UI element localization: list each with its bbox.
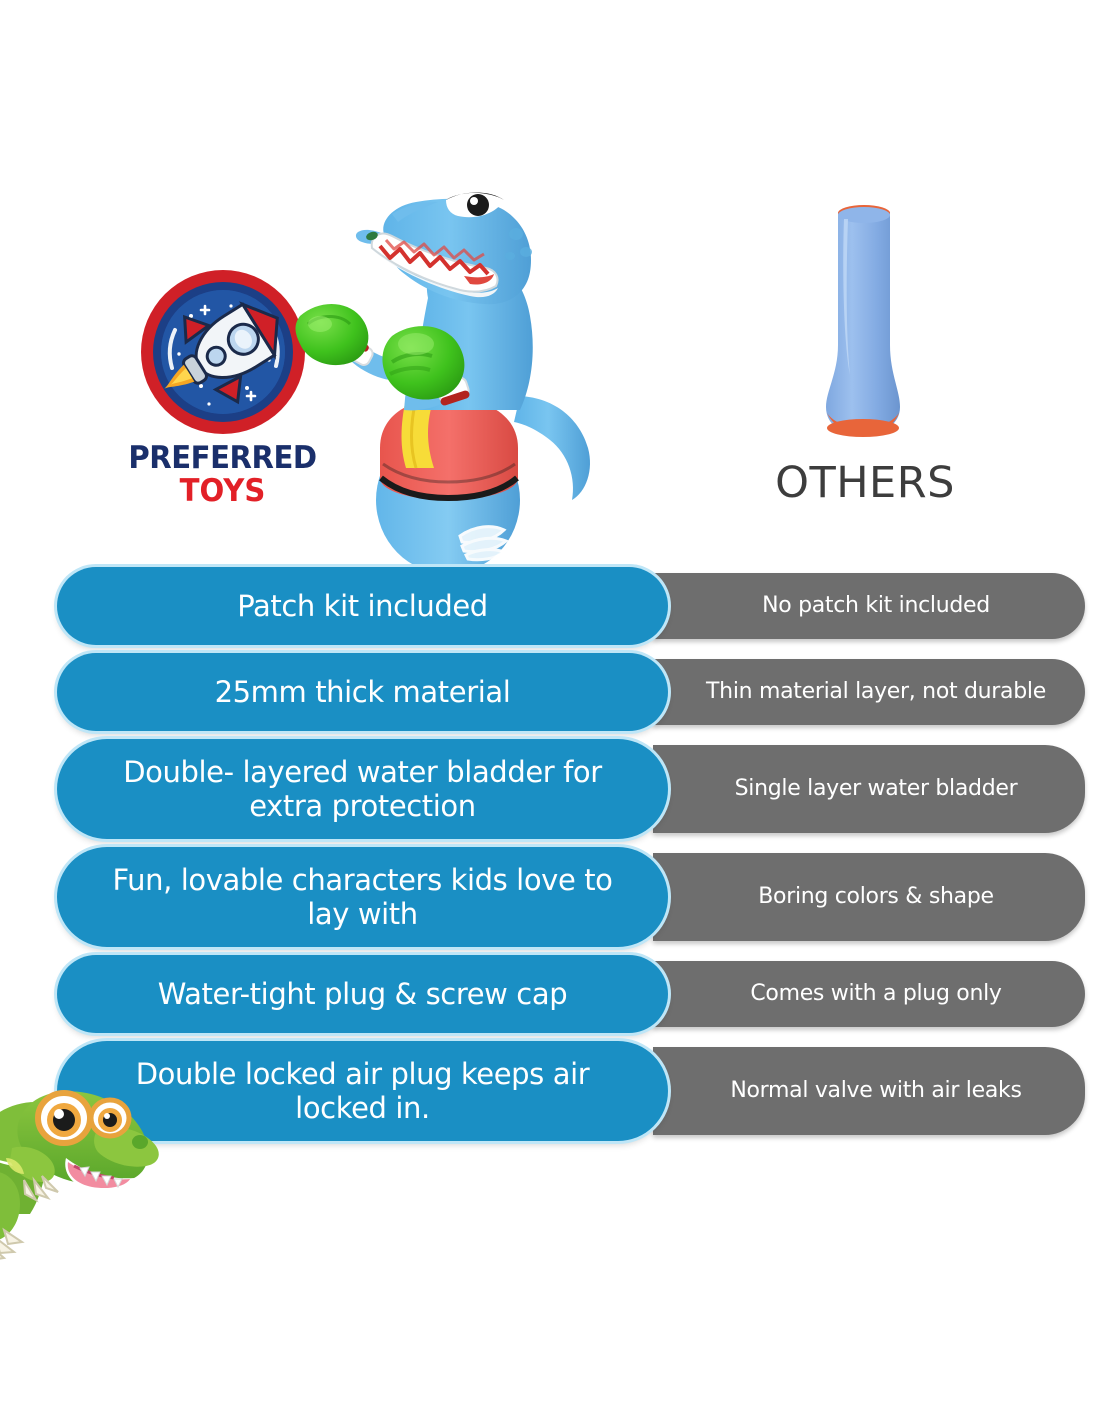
ours-pill: 25mm thick material: [57, 653, 668, 731]
others-pill: Comes with a plug only: [653, 961, 1085, 1027]
comparison-row: Single layer water bladder Double- layer…: [0, 739, 1100, 839]
comparison-row: Boring colors & shape Fun, lovable chara…: [0, 847, 1100, 947]
preferred-product-image: [288, 148, 618, 578]
others-label: OTHERS: [700, 458, 1030, 508]
others-feature-text: Single layer water bladder: [695, 776, 1044, 802]
others-pill: Normal valve with air leaks: [653, 1047, 1085, 1135]
ours-feature-text: Water-tight plug & screw cap: [124, 977, 601, 1011]
others-pill: Single layer water bladder: [653, 745, 1085, 833]
ours-feature-text: Double- layered water bladder for extra …: [57, 755, 668, 823]
others-pill: Thin material layer, not durable: [653, 659, 1085, 725]
ours-feature-text: Patch kit included: [203, 589, 522, 623]
ours-pill: Patch kit included: [57, 567, 668, 645]
others-product-image: [800, 195, 930, 440]
comparison-row: Thin material layer, not durable 25mm th…: [0, 653, 1100, 731]
others-feature-text: Thin material layer, not durable: [666, 679, 1072, 705]
rocket-badge-icon: [139, 268, 307, 436]
others-feature-text: Normal valve with air leaks: [690, 1078, 1047, 1104]
ours-feature-text: 25mm thick material: [181, 675, 545, 709]
comparison-row: No patch kit included Patch kit included: [0, 567, 1100, 645]
ours-feature-text: Double locked air plug keeps air locked …: [57, 1057, 668, 1125]
ours-pill: Fun, lovable characters kids love to lay…: [57, 847, 668, 947]
others-feature-text: No patch kit included: [722, 593, 1016, 619]
comparison-row: Normal valve with air leaks Double locke…: [0, 1041, 1100, 1141]
product-hero-section: PREFERRED TOYS: [0, 0, 1100, 575]
others-pill: Boring colors & shape: [653, 853, 1085, 941]
others-feature-text: Comes with a plug only: [710, 981, 1027, 1007]
others-pill: No patch kit included: [653, 573, 1085, 639]
ours-feature-text: Fun, lovable characters kids love to lay…: [57, 863, 668, 931]
comparison-row: Comes with a plug only Water-tight plug …: [0, 955, 1100, 1033]
ours-pill: Double locked air plug keeps air locked …: [57, 1041, 668, 1141]
ours-pill: Water-tight plug & screw cap: [57, 955, 668, 1033]
ours-pill: Double- layered water bladder for extra …: [57, 739, 668, 839]
comparison-table: No patch kit included Patch kit included…: [0, 567, 1100, 1149]
others-feature-text: Boring colors & shape: [718, 884, 1019, 910]
